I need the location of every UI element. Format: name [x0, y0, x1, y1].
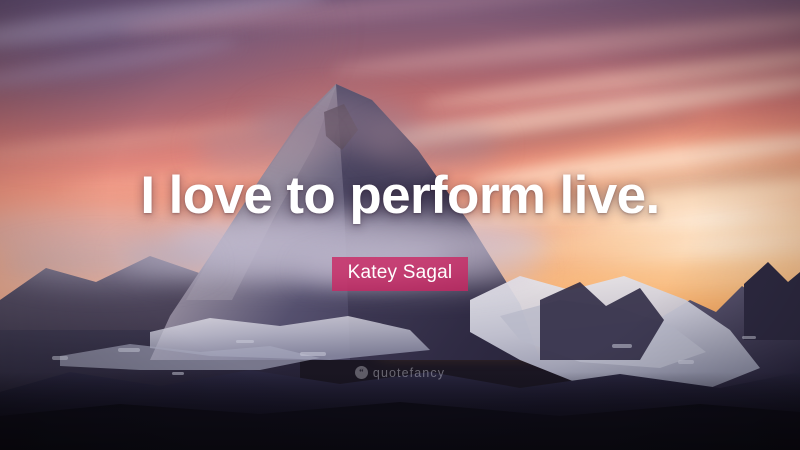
summit-mist	[196, 124, 326, 172]
watermark: “ quotefancy	[0, 362, 800, 380]
wallpaper-canvas: I love to perform live. Katey Sagal “ qu…	[0, 0, 800, 450]
author-badge-container: Katey Sagal	[0, 257, 800, 291]
quote-text: I love to perform live.	[0, 168, 800, 224]
watermark-inner: “ quotefancy	[355, 366, 445, 380]
quote-mark-badge-icon: “	[355, 366, 368, 379]
author-name-badge: Katey Sagal	[332, 257, 469, 291]
summit-mist	[360, 120, 500, 170]
foreground-shadow	[0, 372, 800, 450]
watermark-brand-label: quotefancy	[373, 366, 445, 380]
